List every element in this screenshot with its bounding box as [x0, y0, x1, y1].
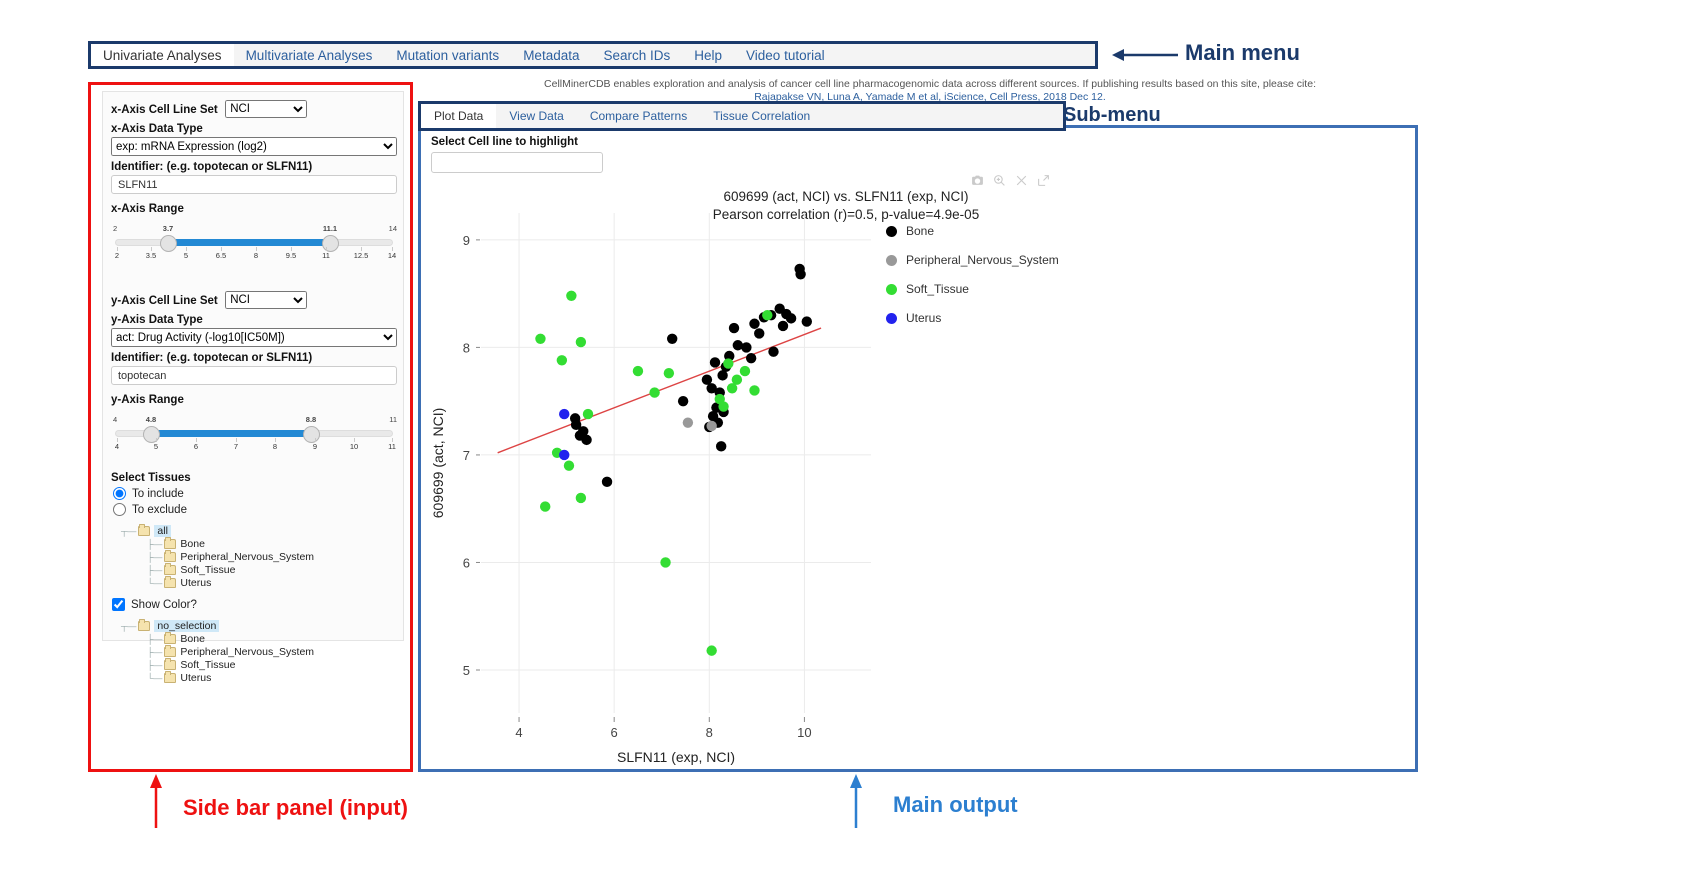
y-axis-tick-5: 9 — [313, 442, 317, 451]
legend-marker-icon — [886, 226, 897, 237]
tissue-exclude-radio[interactable] — [113, 503, 126, 516]
y-axis-slider-fill — [151, 430, 311, 437]
x-axis-cell-line-set-select[interactable]: NCI — [225, 100, 307, 118]
x-axis-range-label: x-Axis Range — [111, 203, 395, 215]
svg-text:9: 9 — [463, 233, 470, 248]
tissue-include-radio-row[interactable]: To include — [111, 487, 395, 500]
legend-marker-icon — [886, 255, 897, 266]
tissue-exclude-label: To exclude — [132, 504, 187, 516]
y-axis-range-max-end: 11 — [389, 415, 397, 424]
main-menu-arrow — [1110, 44, 1180, 66]
highlight-cell-line-label: Select Cell line to highlight — [431, 136, 603, 148]
y-axis-tick-6: 10 — [350, 442, 358, 451]
x-axis-tick-8: 14 — [388, 251, 396, 260]
folder-icon — [164, 552, 176, 562]
y-axis-identifier-label: Identifier: (e.g. topotecan or SLFN11) — [111, 352, 395, 364]
legend-label: Bone — [906, 224, 934, 238]
tree-expand-icon[interactable]: ┬— — [121, 621, 136, 631]
sidebar-arrow — [145, 772, 167, 830]
folder-icon — [138, 526, 150, 536]
tree-branch-icon: ├— — [147, 647, 162, 657]
sub-menu-bar: Plot Data View Data Compare Patterns Tis… — [418, 101, 1066, 131]
tree-branch-icon: ├— — [147, 660, 162, 670]
x-axis-range-max-end: 14 — [389, 224, 397, 233]
main-menu-item-mutation-variants[interactable]: Mutation variants — [384, 44, 511, 66]
x-axis-cell-line-set-label: x-Axis Cell Line Set — [111, 104, 218, 116]
legend-item-peripheral-nervous-system[interactable]: Peripheral_Nervous_System — [886, 253, 1059, 267]
sidebar-inputs: x-Axis Cell Line Set NCI x-Axis Data Typ… — [102, 91, 404, 641]
main-menu-item-help[interactable]: Help — [682, 44, 734, 66]
tree-branch-icon: ├— — [147, 552, 162, 562]
legend-marker-icon — [886, 313, 897, 324]
folder-icon — [164, 578, 176, 588]
main-output-arrow — [845, 772, 867, 830]
y-axis-range-high-value: 8.8 — [306, 415, 316, 424]
tree-branch-icon: └— — [147, 578, 162, 588]
y-axis-tick-1: 5 — [154, 442, 158, 451]
svg-text:7: 7 — [463, 448, 470, 463]
color-tree-root-label: no_selection — [154, 620, 219, 632]
y-axis-cell-line-set-select[interactable]: NCI — [225, 291, 307, 309]
main-menu-item-metadata[interactable]: Metadata — [511, 44, 591, 66]
y-axis-slider-handle-low[interactable] — [143, 426, 160, 443]
sub-menu-item-plot-data[interactable]: Plot Data — [421, 104, 496, 128]
sub-menu-item-compare-patterns[interactable]: Compare Patterns — [577, 104, 700, 128]
x-axis-range-low-value: 3.7 — [163, 224, 173, 233]
color-tree-item-label: Soft_Tissue — [180, 659, 235, 671]
legend-item-uterus[interactable]: Uterus — [886, 311, 941, 325]
x-axis-tick-3: 6.5 — [216, 251, 226, 260]
tissue-tree-item-label: Peripheral_Nervous_System — [180, 551, 314, 563]
sub-menu-item-view-data[interactable]: View Data — [496, 104, 576, 128]
annotation-sub-menu: Sub-menu — [1063, 104, 1161, 127]
x-axis-cell-line-set-row: x-Axis Cell Line Set NCI — [111, 100, 395, 118]
svg-text:4: 4 — [515, 725, 522, 740]
tissue-include-label: To include — [132, 488, 184, 500]
sidebar-panel: x-Axis Cell Line Set NCI x-Axis Data Typ… — [88, 82, 413, 772]
y-axis-tick-3: 7 — [234, 442, 238, 451]
svg-text:10: 10 — [797, 725, 811, 740]
x-axis-tick-7: 12.5 — [354, 251, 369, 260]
x-axis-range-high-value: 11.1 — [323, 224, 337, 233]
tissue-tree-root-label: all — [154, 525, 171, 537]
x-axis-slider-fill — [168, 239, 330, 246]
color-tree[interactable]: ┬— no_selection ├— Bone ├— Peripheral_Ne… — [121, 619, 395, 684]
main-output-panel: Select Cell line to highlight 609699 (ac… — [418, 125, 1418, 772]
x-axis-label: SLFN11 (exp, NCI) — [617, 749, 735, 765]
x-axis-tick-0: 2 — [115, 251, 119, 260]
folder-icon — [164, 660, 176, 670]
svg-text:6: 6 — [463, 555, 470, 570]
x-axis-range-slider[interactable]: 2 14 3.7 11.1 2 3.5 5 6.5 8 9.5 11 12.5 … — [111, 225, 397, 265]
x-axis-slider-handle-low[interactable] — [160, 235, 177, 252]
y-axis-label: 609699 (act, NCI) — [430, 408, 446, 519]
main-menu-bar: Univariate Analyses Multivariate Analyse… — [88, 41, 1098, 69]
folder-icon — [164, 565, 176, 575]
x-axis-identifier-input[interactable] — [111, 175, 397, 194]
x-axis-slider-handle-high[interactable] — [322, 235, 339, 252]
tree-branch-icon: ├— — [147, 565, 162, 575]
y-axis-cell-line-set-row: y-Axis Cell Line Set NCI — [111, 291, 395, 309]
tissue-tree-item-label: Uterus — [180, 577, 211, 589]
folder-icon — [164, 539, 176, 549]
color-tree-item-peripheral-nervous-system[interactable]: ├— Peripheral_Nervous_System — [147, 645, 395, 658]
x-axis-tick-4: 8 — [254, 251, 258, 260]
tissue-tree[interactable]: ┬— all ├— Bone ├— Peripheral_Nervous_Sys… — [121, 524, 395, 589]
color-tree-item-label: Bone — [180, 633, 205, 645]
main-menu-item-search-ids[interactable]: Search IDs — [591, 44, 682, 66]
tree-branch-icon: ├— — [147, 634, 162, 644]
legend-item-bone[interactable]: Bone — [886, 224, 934, 238]
tissue-tree-item-uterus[interactable]: └— Uterus — [147, 576, 395, 589]
legend-label: Soft_Tissue — [906, 282, 969, 296]
color-tree-item-label: Uterus — [180, 672, 211, 684]
tissue-exclude-radio-row[interactable]: To exclude — [111, 503, 395, 516]
color-tree-item-uterus[interactable]: └— Uterus — [147, 671, 395, 684]
tree-branch-icon: └— — [147, 673, 162, 683]
y-axis-identifier-input[interactable] — [111, 366, 397, 385]
y-axis-range-label: y-Axis Range — [111, 394, 395, 406]
y-axis-slider-handle-high[interactable] — [303, 426, 320, 443]
color-tree-item-soft-tissue[interactable]: ├— Soft_Tissue — [147, 658, 395, 671]
x-axis-tick-5: 9.5 — [286, 251, 296, 260]
x-axis-tick-1: 3.5 — [146, 251, 156, 260]
x-axis-tick-2: 5 — [184, 251, 188, 260]
show-color-row[interactable]: Show Color? — [111, 598, 395, 611]
citation-description: CellMinerCDB enables exploration and ana… — [430, 78, 1430, 91]
legend-item-soft-tissue[interactable]: Soft_Tissue — [886, 282, 969, 296]
y-axis-data-type-label: y-Axis Data Type — [111, 314, 395, 326]
main-menu-item-univariate-analyses[interactable]: Univariate Analyses — [91, 44, 234, 66]
show-color-label: Show Color? — [131, 599, 197, 611]
x-axis-range-min-end: 2 — [113, 224, 117, 233]
svg-text:5: 5 — [463, 663, 470, 678]
annotation-main-output: Main output — [893, 792, 1018, 818]
legend-label: Uterus — [906, 311, 941, 325]
tissue-tree-item-label: Soft_Tissue — [180, 564, 235, 576]
show-color-checkbox[interactable] — [112, 598, 125, 611]
y-axis-data-type-select[interactable]: act: Drug Activity (-log10[IC50M]) — [111, 328, 397, 347]
scatter-plot: 609699 (act, NCI) vs. SLFN11 (exp, NCI) … — [421, 168, 1415, 768]
tree-expand-icon[interactable]: ┬— — [121, 526, 136, 536]
y-axis-tick-2: 6 — [194, 442, 198, 451]
y-axis-range-slider[interactable]: 4 11 4.8 8.8 4 5 6 7 8 9 10 11 — [111, 416, 397, 456]
color-tree-root[interactable]: ┬— no_selection — [121, 619, 395, 632]
x-axis-tick-6: 11 — [322, 251, 330, 260]
folder-icon — [138, 621, 150, 631]
tissue-tree-item-bone[interactable]: ├— Bone — [147, 537, 395, 550]
tissue-tree-item-soft-tissue[interactable]: ├— Soft_Tissue — [147, 563, 395, 576]
folder-icon — [164, 634, 176, 644]
y-axis-tick-4: 8 — [273, 442, 277, 451]
tree-branch-icon: ├— — [147, 539, 162, 549]
tissue-tree-item-peripheral-nervous-system[interactable]: ├— Peripheral_Nervous_System — [147, 550, 395, 563]
svg-text:8: 8 — [706, 725, 713, 740]
tissue-tree-item-label: Bone — [180, 538, 205, 550]
y-axis-tick-7: 11 — [388, 442, 396, 451]
tissue-tree-root[interactable]: ┬— all — [121, 524, 395, 537]
annotation-main-menu: Main menu — [1185, 40, 1300, 66]
main-menu-item-multivariate-analyses[interactable]: Multivariate Analyses — [234, 44, 385, 66]
main-menu-tabs: Univariate Analyses Multivariate Analyse… — [91, 44, 1095, 66]
select-tissues-title: Select Tissues — [111, 472, 395, 484]
x-axis-data-type-label: x-Axis Data Type — [111, 123, 395, 135]
x-axis-identifier-label: Identifier: (e.g. topotecan or SLFN11) — [111, 161, 395, 173]
y-axis-cell-line-set-label: y-Axis Cell Line Set — [111, 295, 218, 307]
folder-icon — [164, 673, 176, 683]
legend-marker-icon — [886, 284, 897, 295]
annotation-sidebar: Side bar panel (input) — [183, 795, 408, 821]
color-tree-item-label: Peripheral_Nervous_System — [180, 646, 314, 658]
svg-text:8: 8 — [463, 340, 470, 355]
y-axis-range-low-value: 4.8 — [146, 415, 156, 424]
svg-text:6: 6 — [611, 725, 618, 740]
legend-label: Peripheral_Nervous_System — [906, 253, 1059, 267]
y-axis-tick-0: 4 — [115, 442, 119, 451]
color-tree-item-bone[interactable]: ├— Bone — [147, 632, 395, 645]
sub-menu-item-tissue-correlation[interactable]: Tissue Correlation — [700, 104, 823, 128]
main-menu-item-video-tutorial[interactable]: Video tutorial — [734, 44, 837, 66]
y-axis-range-min-end: 4 — [113, 415, 117, 424]
tissue-include-radio[interactable] — [113, 487, 126, 500]
folder-icon — [164, 647, 176, 657]
x-axis-data-type-select[interactable]: exp: mRNA Expression (log2) — [111, 137, 397, 156]
